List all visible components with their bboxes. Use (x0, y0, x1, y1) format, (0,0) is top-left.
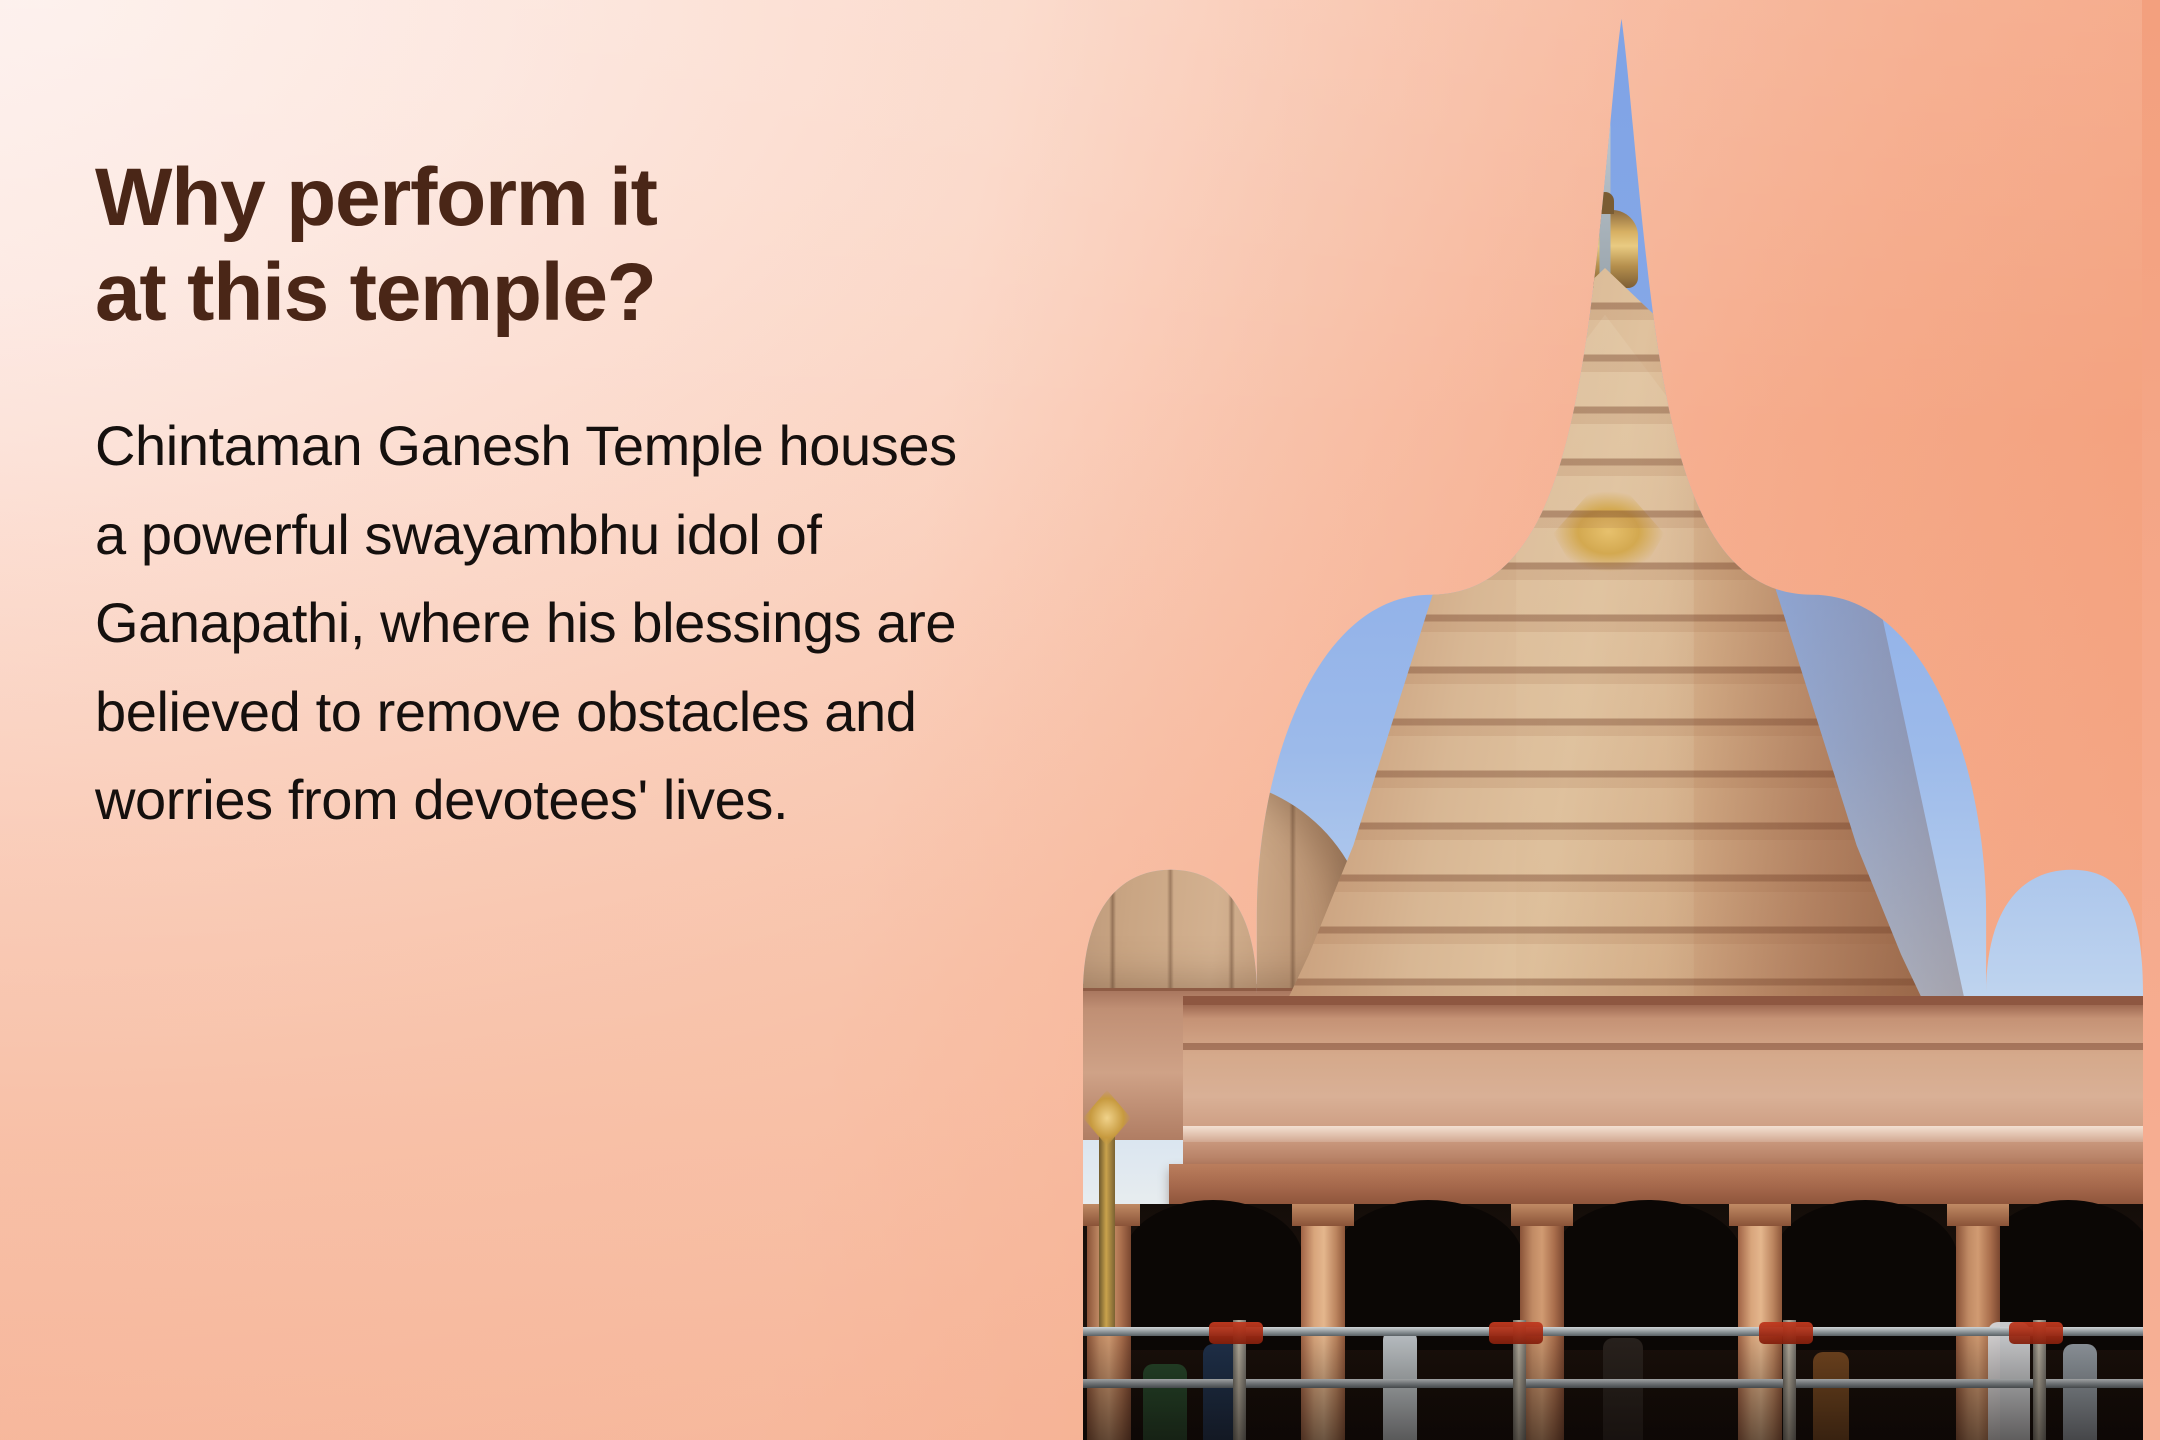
panel-right-strip (2142, 0, 2160, 1440)
info-card-canvas: Why perform it at this temple? Chintaman… (0, 0, 2160, 1440)
shikhara-shadow (1664, 268, 1975, 1048)
page-title: Why perform it at this temple? (95, 150, 1015, 340)
text-column: Why perform it at this temple? Chintaman… (95, 150, 1015, 845)
brass-lamp-post (1099, 1130, 1115, 1330)
pillared-colonnade (1083, 1204, 2143, 1440)
roof-groove-line (1183, 1043, 2143, 1050)
arch-frame-mask (1083, 0, 2143, 1440)
flag-pole (1600, 0, 1611, 288)
temple-photograph (1083, 0, 2143, 1440)
mandapa-roof-slab (1183, 996, 2143, 1172)
body-paragraph: Chintaman Ganesh Temple houses a powerfu… (95, 402, 985, 844)
foreground-shadow (1083, 1330, 2143, 1440)
temple-photo-panel (1083, 0, 2160, 1440)
shikhara-tower (1235, 268, 1975, 1048)
